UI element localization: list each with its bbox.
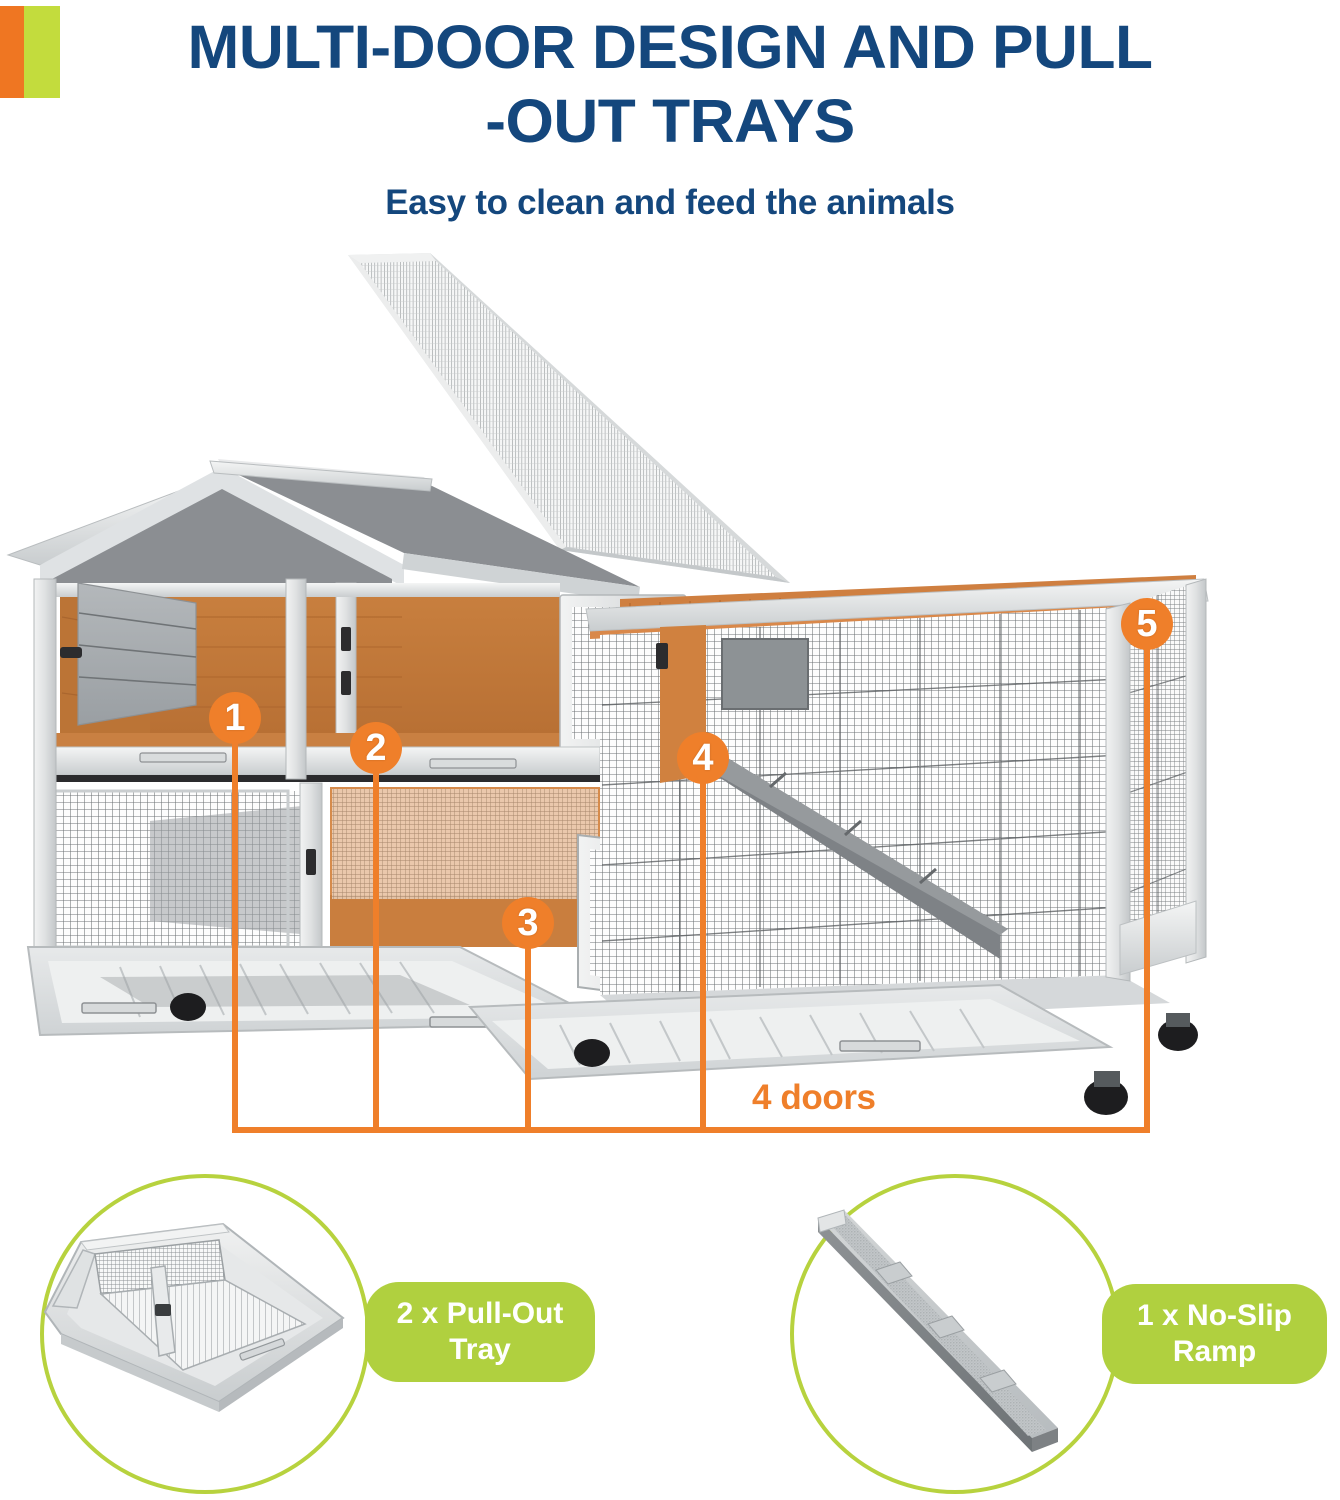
badge-number: 5	[1136, 605, 1157, 643]
badge-pointer	[521, 941, 535, 954]
lead-line-3	[525, 945, 531, 1132]
inset-label-pull-out-tray: 2 x Pull-Out Tray	[365, 1282, 595, 1382]
lead-line-2	[373, 770, 379, 1132]
callout-badge-1[interactable]: 1	[209, 692, 261, 744]
callout-badge-2[interactable]: 2	[350, 722, 402, 774]
page-subtitle: Easy to clean and feed the animals	[0, 182, 1340, 224]
header-banner: MULTI-DOOR DESIGN AND PULL -OUT TRAYS Ea…	[0, 0, 1340, 240]
product-illustration	[0, 235, 1340, 1165]
callout-badge-4[interactable]: 4	[677, 732, 729, 784]
run-enclosure	[586, 575, 1208, 1029]
lead-line-4	[700, 780, 706, 1132]
upper-tray-rail	[44, 747, 602, 782]
lead-line-5	[1144, 646, 1150, 1132]
lead-line-1	[232, 740, 238, 1132]
callout-badge-5[interactable]: 5	[1121, 598, 1173, 650]
badge-number: 2	[365, 729, 386, 767]
callout-baseline	[232, 1127, 1150, 1133]
badge-pointer	[369, 766, 383, 779]
inset-label-no-slip-ramp: 1 x No-Slip Ramp	[1102, 1284, 1327, 1384]
badge-pointer	[228, 736, 242, 749]
page-title: MULTI-DOOR DESIGN AND PULL -OUT TRAYS	[0, 10, 1340, 158]
badge-number: 1	[224, 699, 245, 737]
badge-pointer	[1140, 642, 1154, 655]
callout-badge-3[interactable]: 3	[502, 897, 554, 949]
inset-pull-out-tray: 2 x Pull-Out Tray	[35, 1172, 655, 1492]
badge-pointer	[696, 776, 710, 789]
badge-number: 3	[517, 904, 538, 942]
inset-no-slip-ramp: 1 x No-Slip Ramp	[782, 1172, 1340, 1492]
badge-number: 4	[692, 739, 713, 777]
side-door-open	[60, 583, 196, 725]
doors-count-label: 4 doors	[752, 1078, 876, 1118]
